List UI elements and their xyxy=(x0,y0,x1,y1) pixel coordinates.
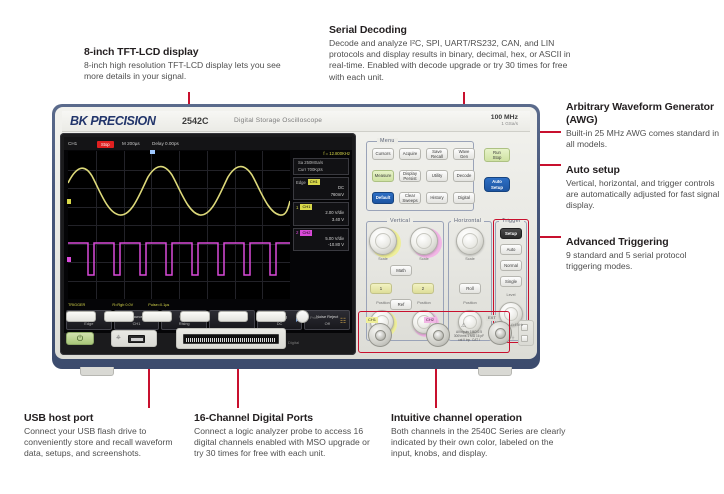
button-sublabel: Persist xyxy=(403,176,416,181)
samplerate-value: 1 GSa/s xyxy=(491,121,518,126)
callout-body: 8-inch high resolution TFT-LCD display l… xyxy=(84,60,284,82)
button-label: 1 xyxy=(380,286,382,291)
button-label: Default xyxy=(376,195,391,200)
button-label: Acquire xyxy=(403,151,418,156)
button-label: Digital xyxy=(458,195,470,200)
digital-port-label: Digital xyxy=(288,340,299,345)
front-softkey-1[interactable] xyxy=(66,311,96,322)
callout-title: Intuitive channel operation xyxy=(391,412,576,425)
trigger-info-value1: R=Rgb 0.0V xyxy=(112,303,133,307)
channel-1-offset: 3.40 V xyxy=(296,217,346,224)
vertical-position-label-ch1: Position xyxy=(368,301,398,305)
trigger-info-value2: Pulse=0.1µs xyxy=(148,303,169,307)
vertical-group-label: Vertical xyxy=(387,218,413,224)
callout-title: USB host port xyxy=(24,412,174,425)
callout-usb-host: USB host port Connect your USB flash dri… xyxy=(24,412,174,460)
callout-tft-display: 8-inch TFT-LCD display 8-inch high resol… xyxy=(84,46,284,82)
callout-serial-decoding: Serial Decoding Decode and analyze I²C, … xyxy=(329,24,574,83)
button-label: Roll xyxy=(466,286,473,291)
button-acquire[interactable]: Acquire xyxy=(399,148,421,160)
scope-foot-left xyxy=(80,367,114,376)
lcd-trigger-info-line: TRIGGER R=Rgb 0.0V Pulse=0.1µs xyxy=(68,303,290,307)
readout-memory-depth: Curr 700Kpts xyxy=(296,167,346,174)
button-measure[interactable]: Measure xyxy=(372,170,394,182)
bandwidth-block: 100 MHz 1 GSa/s xyxy=(491,114,518,126)
vertical-scale-knob-ch1[interactable] xyxy=(369,227,397,255)
trigger-mode-label: Edge xyxy=(296,180,306,185)
callout-body: Both channels in the 2540C Series are cl… xyxy=(391,426,576,460)
button-label: Math xyxy=(396,268,406,273)
lcd-status-bar: CH1 Stop M 200µs Delay 0.00ps xyxy=(64,137,352,150)
callout-auto-setup: Auto setup Vertical, horizontal, and tri… xyxy=(566,164,721,212)
horizontal-scale-knob[interactable] xyxy=(456,227,484,255)
callout-body: Connect your USB flash drive to convenie… xyxy=(24,426,174,460)
button-clear-sweeps[interactable]: Clear Sweeps xyxy=(399,192,421,204)
channel-2-tag: CH2 xyxy=(300,230,312,236)
callout-body: Connect a logic analyzer probe to access… xyxy=(194,426,372,460)
button-auto-setup[interactable]: Auto Setup xyxy=(484,177,510,192)
menu-group-label: Menu xyxy=(377,138,398,144)
digital-port-connector[interactable] xyxy=(183,334,279,344)
callout-title: Auto setup xyxy=(566,164,721,177)
lcd-screen[interactable]: CH1 Stop M 200µs Delay 0.00ps xyxy=(64,137,352,333)
button-label: Utility xyxy=(432,173,443,178)
callout-body: 9 standard and 5 serial protocol trigger… xyxy=(566,250,721,272)
button-save-recall[interactable]: Save Recall xyxy=(426,148,448,160)
aux-output-label-1: ⊓ 1 kHz xyxy=(511,323,523,327)
callout-title: 8-inch TFT-LCD display xyxy=(84,46,284,59)
callout-body: Vertical, horizontal, and trigger contro… xyxy=(566,178,721,212)
brand-bar: BK PRECISION 2542C Digital Storage Oscil… xyxy=(62,111,530,132)
front-softkey-6[interactable] xyxy=(256,311,286,322)
status-timebase: M 200µs xyxy=(122,137,140,150)
waveform-channel-2 xyxy=(68,151,290,299)
channel-2-scale: 5.00 V/div xyxy=(296,236,346,243)
trigger-info-label: TRIGGER xyxy=(68,303,85,307)
button-history[interactable]: History xyxy=(426,192,448,204)
button-math[interactable]: Math xyxy=(390,265,412,276)
button-label: History xyxy=(430,195,443,200)
button-sublabel: Stop xyxy=(493,155,502,160)
front-softkey-2[interactable] xyxy=(104,311,134,322)
callout-title: Advanced Triggering xyxy=(566,236,721,249)
button-channel-2[interactable]: 2 xyxy=(412,283,434,294)
button-default[interactable]: Default xyxy=(372,192,394,204)
button-sublabel: Setup xyxy=(491,185,503,190)
vertical-position-label-ch2: Position xyxy=(409,301,439,305)
print-label: Print xyxy=(310,315,318,320)
callout-body: Built-in 25 MHz AWG comes standard in al… xyxy=(566,128,721,150)
callout-body: Decode and analyze I²C, SPI, UART/RS232,… xyxy=(329,38,574,83)
trigger-source-tag: CH1 xyxy=(308,179,320,185)
button-cursors[interactable]: Cursors xyxy=(372,148,394,160)
button-print[interactable] xyxy=(296,310,309,323)
status-trigger-badge: Stop xyxy=(97,141,114,148)
callout-digital-ports: 16-Channel Digital Ports Connect a logic… xyxy=(194,412,372,460)
button-display-persist[interactable]: Display Persist xyxy=(399,170,421,182)
callout-advanced-triggering: Advanced Triggering 9 standard and 5 ser… xyxy=(566,236,721,272)
model-number: 2542C xyxy=(182,116,209,126)
button-label: Decode xyxy=(457,173,472,178)
power-button[interactable]: ⏻ xyxy=(66,332,94,345)
channel-2-number: 2 xyxy=(296,230,298,235)
status-channel: CH1 xyxy=(68,137,77,150)
readout-trigger: Edge CH1 DC 760mV xyxy=(293,177,349,200)
button-digital[interactable]: Digital xyxy=(453,192,475,204)
readout-frequency: f = 12.800KHz xyxy=(292,151,350,156)
button-channel-1[interactable]: 1 xyxy=(370,283,392,294)
readout-acquisition: Sa 250MSa/s Curr 700Kpts xyxy=(293,158,349,175)
horizontal-scale-label: Scale xyxy=(455,257,485,261)
channel-2-offset: -10.80 V xyxy=(296,242,346,249)
button-label: Ref xyxy=(398,302,405,307)
vertical-scale-label-ch2: Scale xyxy=(409,257,439,261)
aux-output-label-2: ⏚ xyxy=(511,335,515,341)
trigger-level: 760mV xyxy=(296,192,346,199)
brand-logo: BK PRECISION xyxy=(70,114,156,128)
oscilloscope: BK PRECISION 2542C Digital Storage Oscil… xyxy=(52,104,540,369)
horizontal-group-label: Horizontal xyxy=(451,218,484,224)
channel-1-tag: CH1 xyxy=(300,204,312,210)
front-softkey-5[interactable] xyxy=(218,311,248,322)
scope-foot-right xyxy=(478,367,512,376)
button-utility[interactable]: Utility xyxy=(426,170,448,182)
vertical-scale-knob-ch2[interactable] xyxy=(410,227,438,255)
readout-sample-rate: Sa 250MSa/s xyxy=(296,160,346,167)
bandwidth-value: 100 MHz xyxy=(491,114,518,121)
highlight-channel-connectors xyxy=(358,311,510,353)
front-softkey-3[interactable] xyxy=(142,311,172,322)
button-label: 2 xyxy=(422,286,424,291)
trigger-coupling: DC xyxy=(296,185,346,192)
usb-status-icon: ☷ xyxy=(338,317,348,327)
callout-title: Arbitrary Waveform Generator (AWG) xyxy=(566,101,721,127)
button-sublabel: Gen xyxy=(460,154,468,159)
aux-output-terminal-2[interactable] xyxy=(521,335,528,342)
channel-1-number: 1 xyxy=(296,205,298,210)
lcd-readout-panel: f = 12.800KHz Sa 250MSa/s Curr 700Kpts E… xyxy=(292,151,350,301)
button-decode[interactable]: Decode xyxy=(453,170,475,182)
channel-1-scale: 2.00 V/div xyxy=(296,210,346,217)
button-run-stop[interactable]: Run Stop xyxy=(484,148,510,162)
callout-title: Serial Decoding xyxy=(329,24,574,37)
usb-icon: ⎈ xyxy=(116,335,121,342)
waveform-graticule xyxy=(68,151,290,299)
front-softkey-4[interactable] xyxy=(180,311,210,322)
vertical-scale-label-ch1: Scale xyxy=(368,257,398,261)
button-label: Cursors xyxy=(375,151,390,156)
readout-channel-2: 2 CH2 5.00 V/div -10.80 V xyxy=(293,228,349,251)
button-roll[interactable]: Roll xyxy=(459,283,481,294)
callout-title: 16-Channel Digital Ports xyxy=(194,412,372,425)
button-label: Measure xyxy=(375,173,392,178)
callout-channel-operation: Intuitive channel operation Both channel… xyxy=(391,412,576,460)
button-sublabel: Recall xyxy=(431,154,443,159)
button-wave-gen[interactable]: Wave Gen xyxy=(453,148,475,160)
usb-host-port[interactable] xyxy=(128,335,145,343)
callout-awg: Arbitrary Waveform Generator (AWG) Built… xyxy=(566,101,721,150)
readout-channel-1: 1 CH1 2.00 V/div 3.40 V xyxy=(293,202,349,225)
digital-port-pins xyxy=(186,338,276,342)
horizontal-position-label: Position xyxy=(455,301,485,305)
product-category-label: Digital Storage Oscilloscope xyxy=(234,117,322,124)
button-sublabel: Sweeps xyxy=(402,198,417,203)
status-delay: Delay 0.00ps xyxy=(152,137,179,150)
